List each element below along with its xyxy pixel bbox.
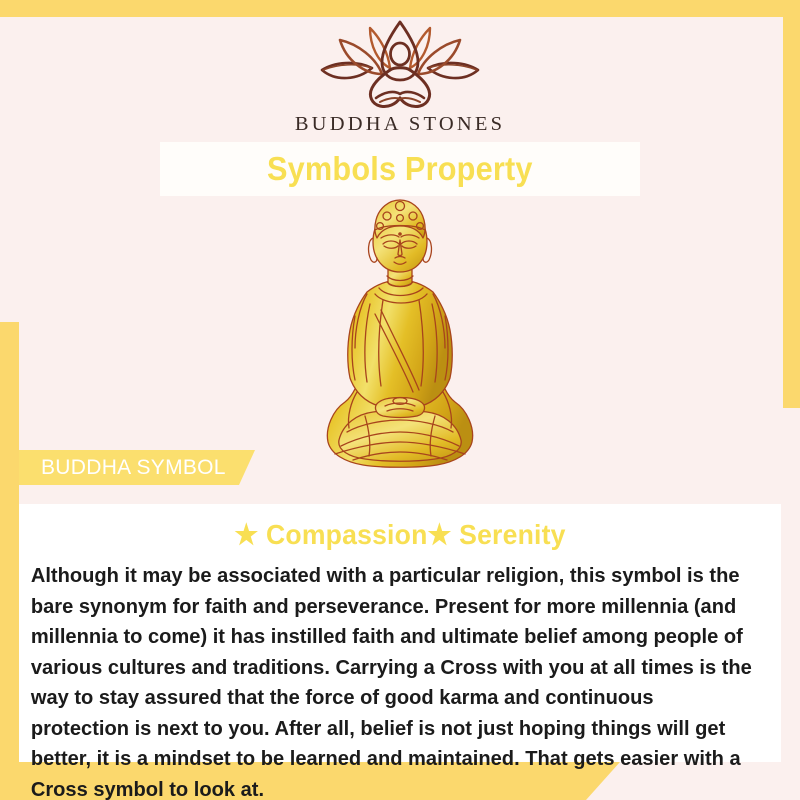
content-paragraph: Although it may be associated with a par… (19, 551, 770, 800)
section-ribbon: BUDDHA SYMBOL (19, 450, 255, 485)
page-title: Symbols Property (267, 150, 533, 188)
brand-name: BUDDHA STONES (0, 113, 800, 136)
brand-logo: BUDDHA STONES (0, 18, 800, 136)
content-panel: ★ Compassion★ Serenity Although it may b… (19, 504, 781, 762)
poster-canvas: BUDDHA STONES Symbols Property (0, 0, 800, 800)
section-ribbon-label: BUDDHA SYMBOL (19, 456, 226, 480)
lotus-meditation-icon (314, 18, 486, 110)
title-banner: Symbols Property (160, 142, 640, 196)
seated-buddha-statue-illustration (295, 196, 505, 488)
decoration-top-band (0, 0, 800, 17)
content-headline: ★ Compassion★ Serenity (38, 504, 762, 551)
